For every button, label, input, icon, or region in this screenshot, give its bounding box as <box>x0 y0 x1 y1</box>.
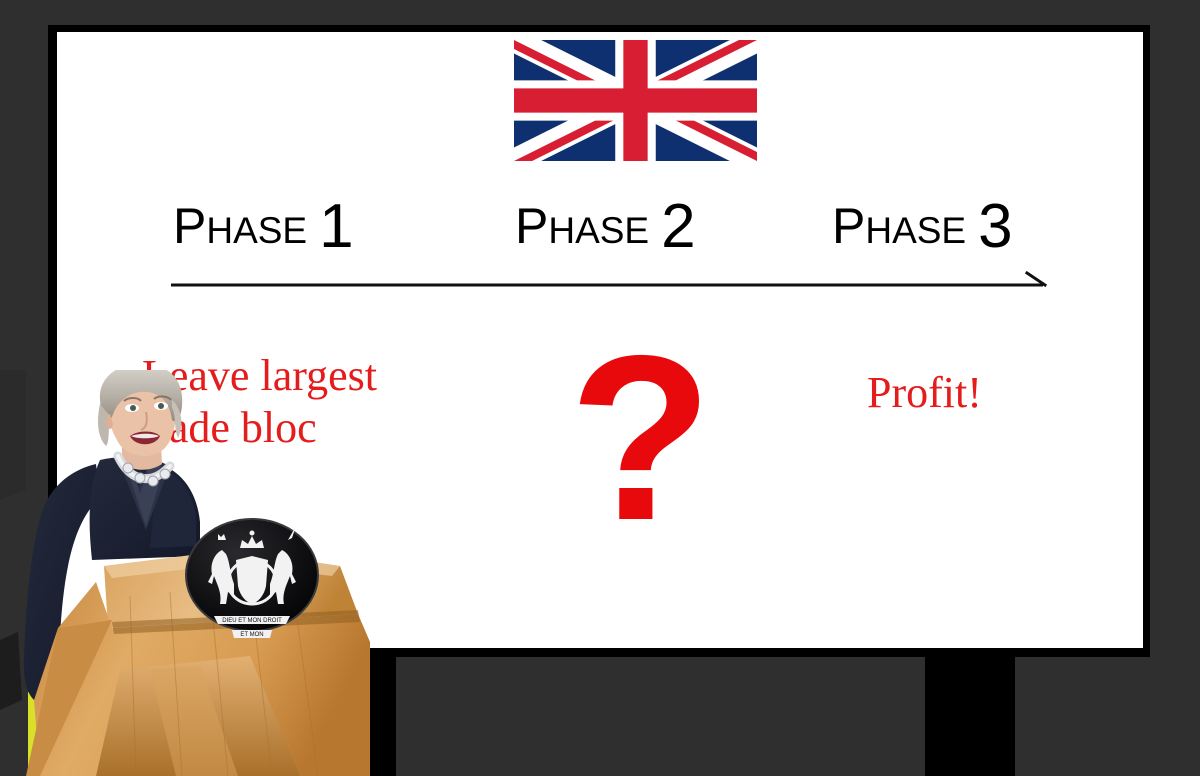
phase-1-number: 1 <box>319 192 353 261</box>
theresa-may-cutout: DIEU ET MON DROIT ET MON <box>0 370 370 776</box>
phase-3-cap: P <box>832 198 865 254</box>
phase-headings-row: PHASE1 PHASE2 PHASE3 <box>57 182 1143 262</box>
meme-canvas: PHASE1 PHASE2 PHASE3 Leave largest trade… <box>0 0 1200 776</box>
union-jack-flag <box>514 40 757 161</box>
svg-text:ET MON: ET MON <box>240 632 263 638</box>
phase-heading-2: PHASE2 <box>515 192 696 254</box>
svg-text:DIEU ET MON DROIT: DIEU ET MON DROIT <box>222 618 282 624</box>
timeline-arrow <box>171 270 1051 292</box>
annotation-phase-3: Profit! <box>867 367 982 419</box>
phase-2-rest: HASE <box>548 210 649 251</box>
timeline-arrow-icon <box>171 270 1051 292</box>
board-stand-leg-right <box>925 652 1015 776</box>
phase-1-cap: P <box>173 198 206 254</box>
annotation-phase-2: ? <box>569 320 713 555</box>
phase-2-cap: P <box>515 198 548 254</box>
phase-1-rest: HASE <box>206 210 307 251</box>
phase-2-number: 2 <box>661 192 695 261</box>
union-jack-icon <box>514 40 757 161</box>
phase-3-rest: HASE <box>865 210 966 251</box>
phase-3-number: 3 <box>978 192 1012 261</box>
theresa-may-podium-image: DIEU ET MON DROIT ET MON <box>0 370 370 776</box>
phase-heading-1: PHASE1 <box>173 192 354 254</box>
phase-heading-3: PHASE3 <box>832 192 1013 254</box>
